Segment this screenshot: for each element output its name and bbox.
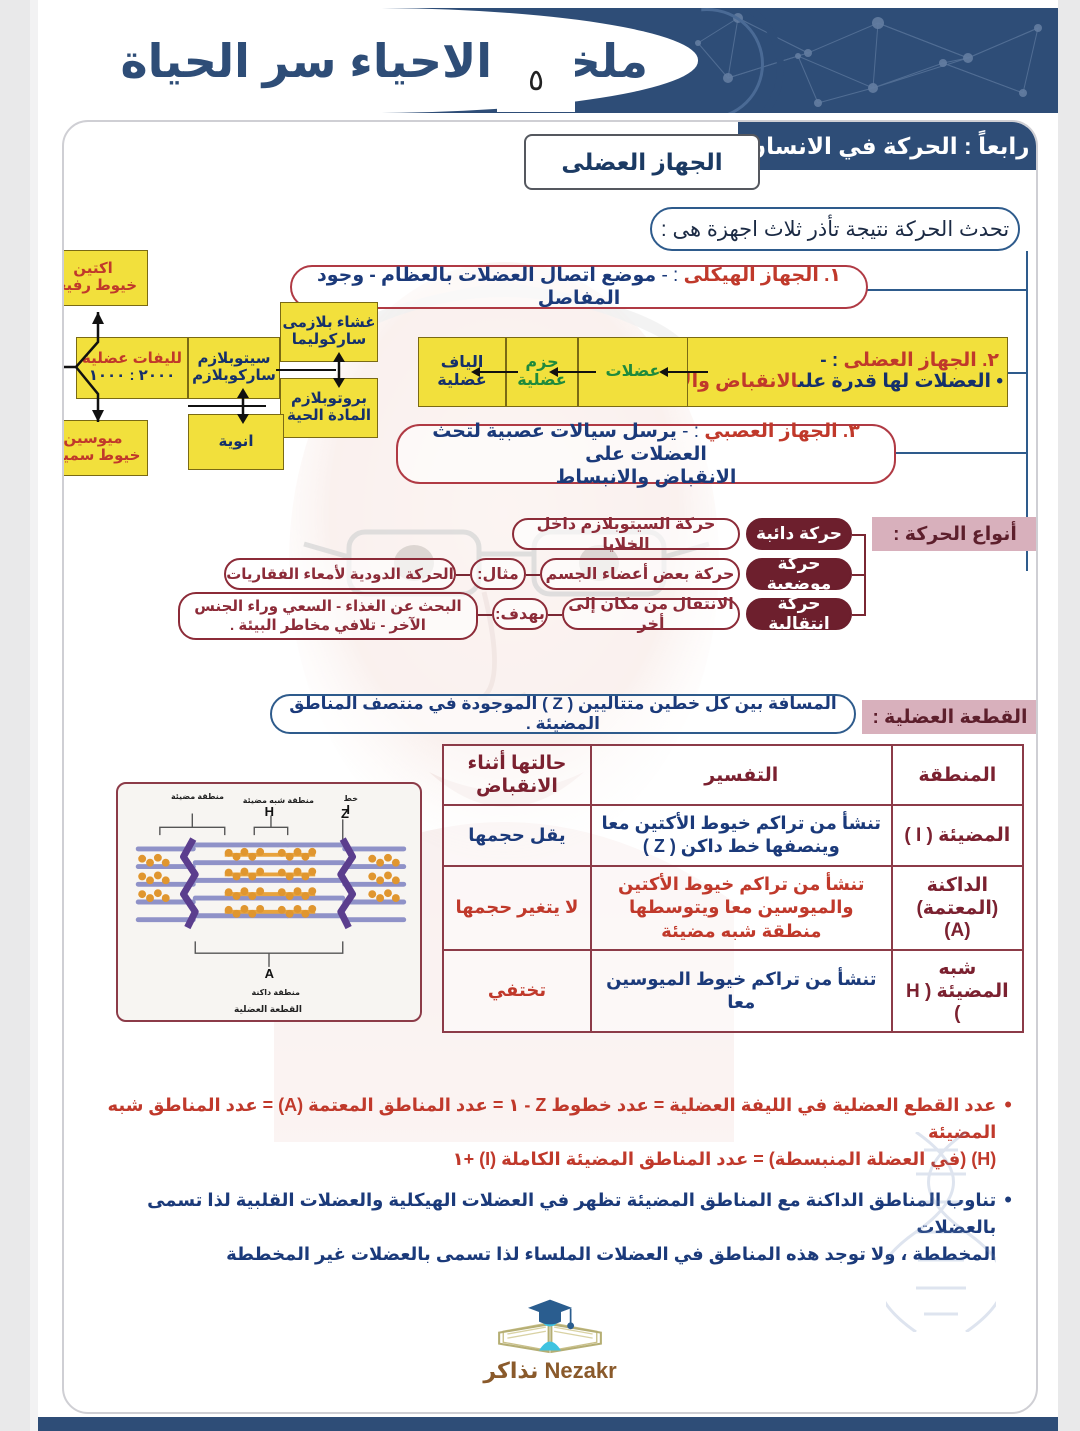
note-1-line-0: تناوب المناطق الداكنة مع المناطق المضيئة… xyxy=(147,1190,996,1237)
fiber-double-arrow-1 xyxy=(328,350,350,390)
chain-arrow-3 xyxy=(480,371,518,373)
membrane-line2: ساركوليما xyxy=(292,332,367,349)
sarcomere-table: المنطقة التفسير حالتها أثناء الانقباض ال… xyxy=(442,744,1024,1033)
movement-branch-0 xyxy=(852,534,866,536)
left-inner-rail xyxy=(30,0,38,1431)
movement-connector-line-2 xyxy=(548,614,562,616)
movement-types-label: أنواع الحركة : xyxy=(872,517,1038,551)
actin-line1: اكتين xyxy=(73,261,113,278)
table-header-row: المنطقة التفسير حالتها أثناء الانقباض xyxy=(443,745,1023,805)
site-title: ملخص الاحياء سر الحياة xyxy=(38,8,678,113)
protoplasm-line2: المادة الحية xyxy=(287,408,371,425)
movement-desc-2: الانتقال من مكان إلى أخر xyxy=(562,598,740,630)
footer-logo: Nezakr نذاكر xyxy=(440,1291,660,1384)
study-sheet-page: ملخص الاحياء سر الحياة ٥ xyxy=(0,0,1080,1431)
movement-type-1: حركة موضعية xyxy=(746,558,852,590)
chain-arrow-2 xyxy=(558,371,596,373)
th-explanation: التفسير xyxy=(591,745,892,805)
fiber-link-sarcoplasm-nuclei xyxy=(188,405,266,407)
note-1-line-1: المخططة ، ولا توجد هذه المناطق في العضلا… xyxy=(226,1244,996,1264)
th-state: حالتها أثناء الانقباض xyxy=(443,745,591,805)
movement-desc-0: حركة السيتوبلازم داخل الخلايا xyxy=(512,518,740,550)
system-nervous-box: ٣. الجهاز العصبي : - يرسل سيالات عصبية ل… xyxy=(396,424,896,484)
intro-box: تحدث الحركة نتيجة تأذر ثلاث اجهزة هى : xyxy=(650,207,1020,251)
system-nervous-desc2: الانقباض والانبساط xyxy=(556,467,737,488)
sarcoplasm-line2: ساركوبلازم xyxy=(192,368,276,385)
movement-connector-2: بهدف: xyxy=(492,598,548,630)
diagram-label-a: منطقة داكنة xyxy=(252,988,300,997)
diagram-letter-h: H xyxy=(265,804,274,819)
section-title: رابعاً : الحركة في الانسان xyxy=(738,122,1038,170)
cell-explanation-2: تنشأ من تراكم خيوط الميوسين معا xyxy=(591,950,892,1032)
movement-connector-line-1 xyxy=(526,574,540,576)
bullet-dot-icon: • xyxy=(1004,1094,1012,1116)
section-subtitle: الجهاز العضلى xyxy=(524,134,760,190)
movement-type-2: حركة انتقالية xyxy=(746,598,852,630)
myosin-line1: ميوسين xyxy=(63,431,122,448)
diagram-label-h: منطقة شبه مضيئة xyxy=(243,796,314,805)
page-number-tab: ٥ xyxy=(497,48,575,112)
cell-state-1: لا يتغير حجمها xyxy=(443,866,591,950)
fiber-link-membrane-protoplasm xyxy=(276,369,336,371)
cell-explanation-0: تنشأ من تراكم خيوط الأكتين معا وينصفها خ… xyxy=(591,805,892,866)
left-margin-rail xyxy=(0,0,30,1431)
table-row: المضيئة ( I ) تنشأ من تراكم خيوط الأكتين… xyxy=(443,805,1023,866)
actin-line2: خيوط رفيعة xyxy=(62,278,137,295)
sarcomere-diagram: منطقة مضيئة I منطقة شبه مضيئة H خط Z A م… xyxy=(116,782,422,1022)
movement-branch-1 xyxy=(852,574,866,576)
content-sheet: رابعاً : الحركة في الانسان الجهاز العضلى… xyxy=(62,120,1038,1414)
system-skeletal-name: ١. الجهاز الهيكلى xyxy=(684,265,841,286)
cell-state-0: يقل حجمها xyxy=(443,805,591,866)
diagram-letter-a: A xyxy=(265,966,274,981)
connector-nervous xyxy=(896,452,1026,454)
bullet-dot-icon: • xyxy=(1004,1189,1012,1211)
movement-connector-1: مثال: xyxy=(470,558,526,590)
diagram-caption: القطعة العضلية xyxy=(234,1004,302,1015)
right-margin-rail xyxy=(1058,0,1080,1431)
footer-brand-arabic: نذاكر xyxy=(483,1358,538,1383)
notes-list: • عدد القطع العضلية في الليفة العضلية = … xyxy=(82,1092,1012,1282)
graduation-book-icon xyxy=(495,1291,605,1355)
note-0-line-0: عدد القطع العضلية في الليفة العضلية = عد… xyxy=(107,1095,996,1142)
note-item: • تناوب المناطق الداكنة مع المناطق المضي… xyxy=(82,1187,1012,1268)
th-zone: المنطقة xyxy=(892,745,1023,805)
bottom-bar xyxy=(38,1417,1058,1431)
system-nervous-name: ٣. الجهاز العصبي xyxy=(704,421,859,442)
protoplasm-line1: بروتوبلازم xyxy=(291,391,367,408)
movement-extra-line-2 xyxy=(478,614,492,616)
table-row: شبه المضيئة ( H ) تنشأ من تراكم خيوط الم… xyxy=(443,950,1023,1032)
chain-arrow-1 xyxy=(668,371,708,373)
diagram-label-i: منطقة مضيئة xyxy=(171,792,224,801)
diagram-label-z: خط xyxy=(344,794,358,803)
footer-brand-latin: Nezakr xyxy=(544,1358,616,1383)
nuclei-line1: انوية xyxy=(219,434,254,451)
cell-zone-0: المضيئة ( I ) xyxy=(892,805,1023,866)
movement-extra-line-1 xyxy=(456,574,470,576)
cell-explanation-1: تنشأ من تراكم خيوط الأكتين والميوسين معا… xyxy=(591,866,892,950)
movement-extra-1: الحركة الدودية لأمعاء الفقاريات xyxy=(224,558,456,590)
connector-skeletal xyxy=(866,289,1026,291)
dna-decoration-icon xyxy=(886,1132,996,1332)
cell-state-2: تختفي xyxy=(443,950,591,1032)
sarcomere-definition-box: المسافة بين كل خطين متتاليين ( Z ) الموج… xyxy=(270,694,856,734)
diagram-letter-z: Z xyxy=(341,806,349,821)
note-item: • عدد القطع العضلية في الليفة العضلية = … xyxy=(82,1092,1012,1173)
sarcomere-diagram-svg xyxy=(118,784,420,1020)
intro-text: تحدث الحركة نتيجة تأذر ثلاث اجهزة هى : xyxy=(661,217,1009,242)
cell-zone-2: شبه المضيئة ( H ) xyxy=(892,950,1023,1032)
fiber-box-actin: اكتين خيوط رفيعة xyxy=(62,250,148,306)
cell-zone-1: الداكنة (المعتمة) (A) xyxy=(892,866,1023,950)
fiber-branch-connector xyxy=(62,302,156,432)
sarcoplasm-line1: سيتوبلازم xyxy=(197,351,270,368)
myosin-line2: خيوط سميكة xyxy=(62,448,140,465)
movement-extra-2: البحث عن الغذاء - السعي وراء الجنس الآخر… xyxy=(178,592,478,640)
movement-branch-2 xyxy=(852,614,866,616)
footer-brand: Nezakr نذاكر xyxy=(440,1358,660,1384)
sarcomere-label: القطعة العضلية : xyxy=(862,700,1038,734)
movement-type-0: حركة دائبة xyxy=(746,518,852,550)
table-row: الداكنة (المعتمة) (A) تنشأ من تراكم خيوط… xyxy=(443,866,1023,950)
membrane-line1: غشاء بلازمى xyxy=(282,315,375,332)
fiber-double-arrow-2 xyxy=(232,386,254,426)
chain-label-muscles: عضلات xyxy=(606,363,661,381)
movement-desc-1: حركة بعض أعضاء الجسم xyxy=(540,558,740,590)
